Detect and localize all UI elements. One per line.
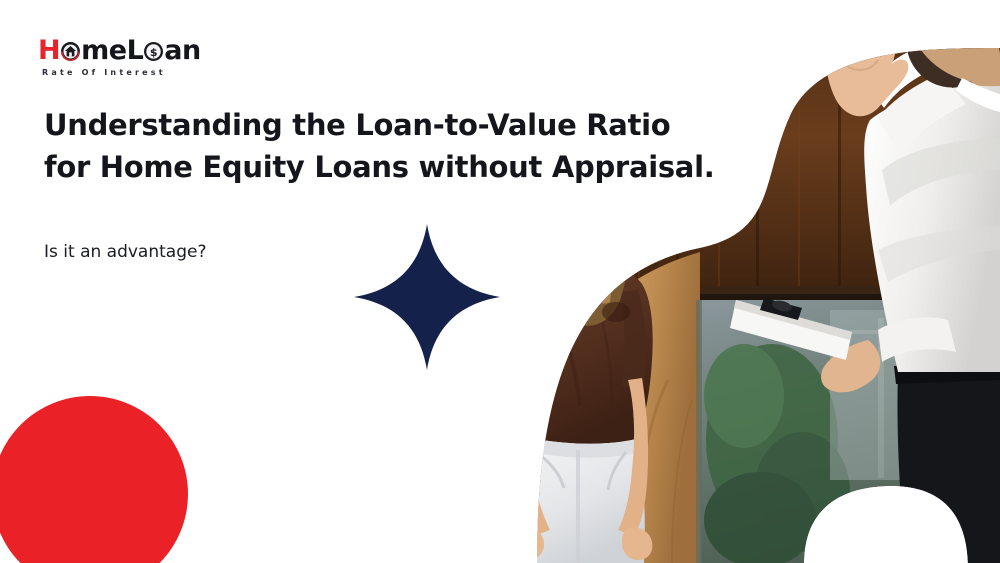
logo-letters-me: me [81,35,126,66]
subheadline: Is it an advantage? [44,242,724,262]
marketing-banner: H meL $ an Rate Of Interest Unders [0,0,1000,563]
headline-line-2: for Home Equity Loans without Appraisal. [44,146,724,188]
house-in-circle-icon [60,41,81,62]
svg-text:$: $ [150,46,157,59]
logo-wordmark-row: H meL $ an [38,36,201,66]
logo-letter-h: H [38,35,60,66]
headline-line-1: Understanding the Loan-to-Value Ratio [44,104,724,146]
red-circle-decoration [0,396,188,563]
logo-wordmark: H meL $ an [38,36,201,66]
logo-tagline: Rate Of Interest [42,68,201,77]
headline-block: Understanding the Loan-to-Value Ratio fo… [44,104,724,262]
logo-letters-an: an [164,35,200,66]
brand-logo[interactable]: H meL $ an Rate Of Interest [38,36,201,77]
logo-letter-l: L [127,35,144,66]
dollar-in-circle-icon: $ [143,41,164,62]
